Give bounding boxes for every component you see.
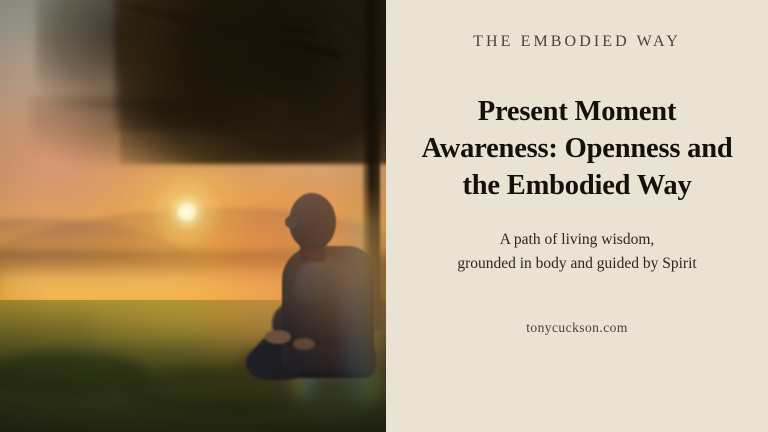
hero-photo (0, 0, 386, 432)
subtitle-line-1: A path of living wisdom, (457, 228, 696, 252)
site-url[interactable]: tonycuckson.com (526, 320, 628, 336)
resting-hand (265, 330, 291, 344)
resting-hand (293, 338, 315, 350)
face-profile (285, 216, 297, 228)
meditating-person-icon (0, 0, 386, 432)
rainbow-aura-right (344, 212, 386, 402)
subtitle: A path of living wisdom, grounded in bod… (457, 228, 696, 276)
subtitle-line-2: grounded in body and guided by Spirit (457, 252, 696, 276)
brand-eyebrow: THE EMBODIED WAY (473, 33, 681, 51)
article-header-card: THE EMBODIED WAY Present Moment Awarenes… (0, 0, 768, 432)
page-title: Present Moment Awareness: Openness and t… (412, 93, 742, 204)
text-panel: THE EMBODIED WAY Present Moment Awarenes… (386, 0, 768, 432)
